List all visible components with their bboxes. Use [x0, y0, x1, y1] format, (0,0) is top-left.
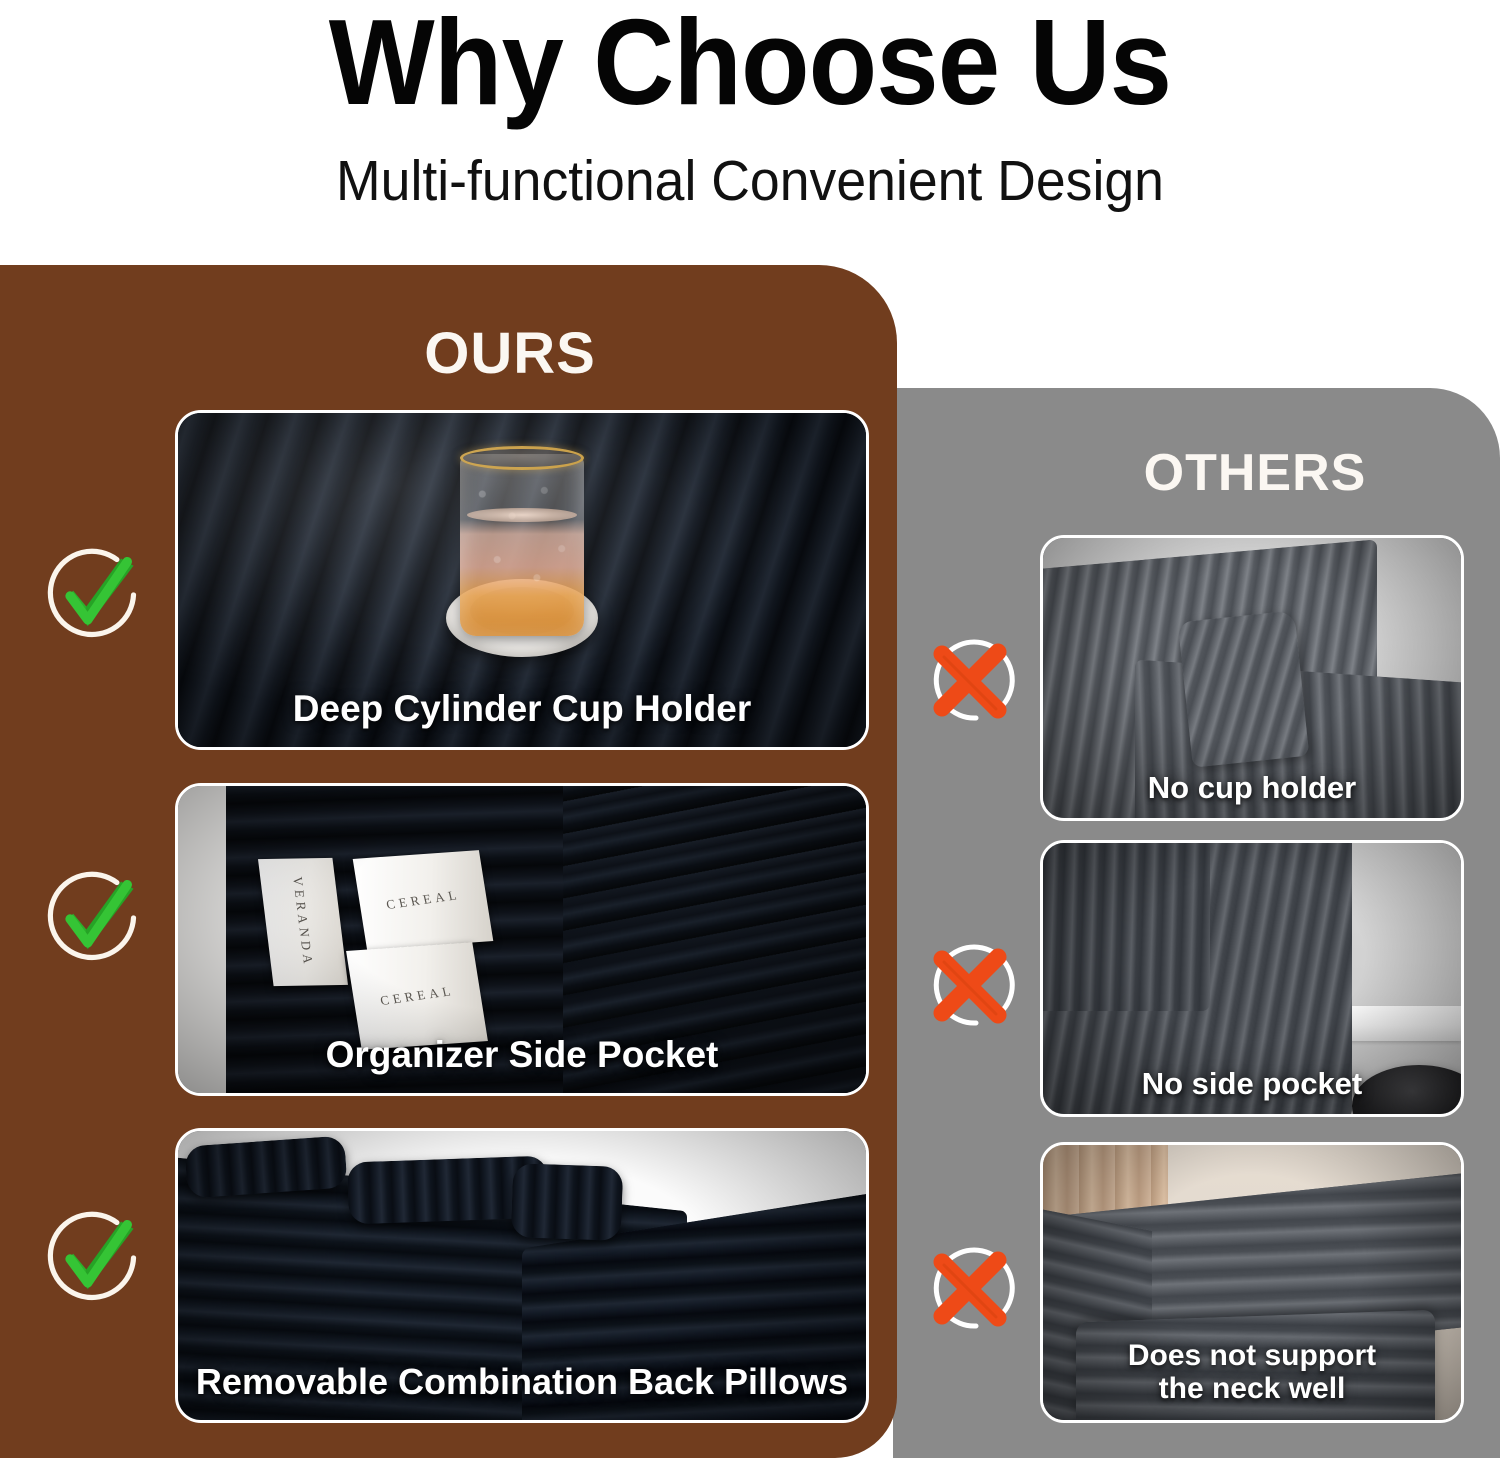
infographic-page: Why Choose Us Multi-functional Convenien… — [0, 0, 1500, 1458]
ours-card-cup-holder[interactable]: Deep Cylinder Cup Holder — [175, 410, 869, 750]
cross-icon — [920, 935, 1020, 1035]
ours-card-back-pillows[interactable]: Removable Combination Back Pillows — [175, 1128, 869, 1423]
others-card-caption: No side pocket — [1043, 1067, 1461, 1102]
cross-icon — [920, 1238, 1020, 1338]
ours-heading: OURS — [340, 322, 680, 386]
ours-card-side-pocket[interactable]: VERANDA CEREAL CEREAL Organizer Side Poc… — [175, 783, 869, 1096]
ours-card-caption: Removable Combination Back Pillows — [178, 1362, 866, 1402]
page-title: Why Choose Us — [60, 0, 1440, 130]
others-card-no-cup-holder[interactable]: No cup holder — [1040, 535, 1464, 821]
ours-card-caption: Deep Cylinder Cup Holder — [178, 688, 866, 729]
cross-icon — [920, 630, 1020, 730]
page-subtitle: Multi-functional Convenient Design — [45, 148, 1455, 214]
check-icon — [42, 868, 146, 972]
others-heading: OTHERS — [1090, 443, 1420, 503]
magazine-veranda: VERANDA — [258, 858, 348, 986]
others-card-no-side-pocket[interactable]: No side pocket — [1040, 840, 1464, 1117]
ours-card-caption: Organizer Side Pocket — [178, 1034, 866, 1075]
others-card-no-neck-support[interactable]: Does not support the neck well — [1040, 1142, 1464, 1423]
others-card-caption: No cup holder — [1043, 771, 1461, 806]
header: Why Choose Us Multi-functional Convenien… — [0, 0, 1500, 265]
others-card-caption: Does not support the neck well — [1043, 1339, 1461, 1406]
check-icon — [42, 1208, 146, 1312]
magazine-cereal-top: CEREAL — [353, 850, 494, 950]
check-icon — [42, 545, 146, 649]
